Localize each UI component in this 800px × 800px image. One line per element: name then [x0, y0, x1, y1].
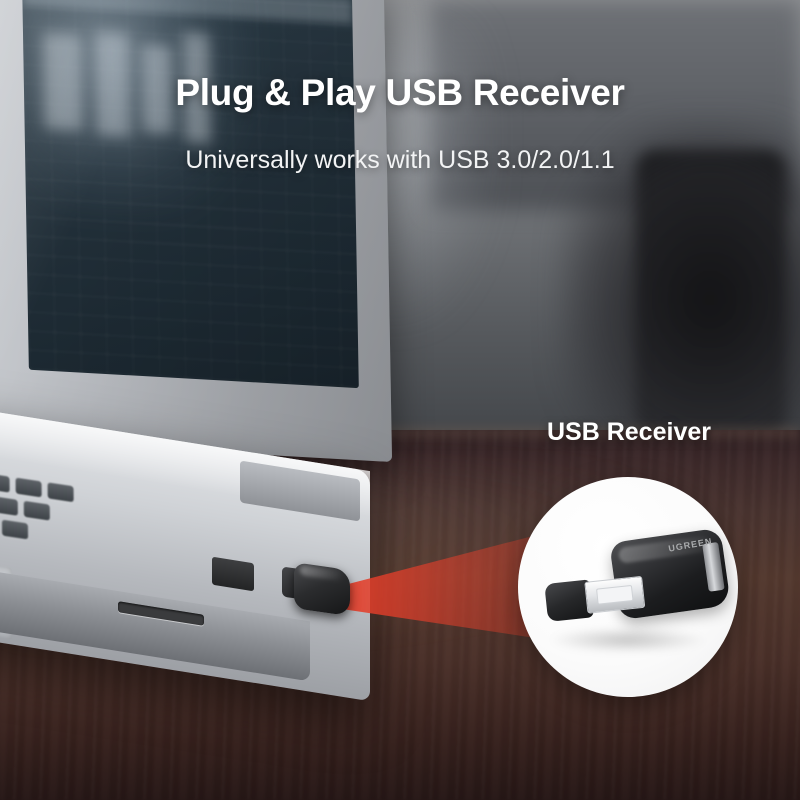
- keyboard-key: [24, 501, 50, 521]
- product-receiver-slot: [702, 542, 725, 592]
- product-dongle-usb-connector: [584, 576, 645, 614]
- plugged-usb-receiver: [282, 551, 360, 624]
- keyboard-key: [0, 496, 18, 516]
- product-drop-shadow: [548, 627, 708, 653]
- subheadline: Universally works with USB 3.0/2.0/1.1: [0, 146, 800, 175]
- laptop-lid: [0, 0, 392, 462]
- keyboard-key: [16, 478, 42, 498]
- product-marketing-image: UGREEN Plug & Play USB Receiver Universa…: [0, 0, 800, 800]
- lid-shading: [0, 0, 392, 462]
- product-usb-dongle: [544, 570, 644, 626]
- product-dongle-connector-inner: [596, 585, 633, 605]
- headline: Plug & Play USB Receiver: [0, 72, 800, 114]
- callout-label: USB Receiver: [498, 418, 760, 447]
- keyboard-key: [48, 482, 74, 502]
- keyboard-key: [2, 520, 28, 540]
- keyboard-key: [0, 473, 10, 493]
- product-callout-circle: UGREEN: [518, 477, 738, 697]
